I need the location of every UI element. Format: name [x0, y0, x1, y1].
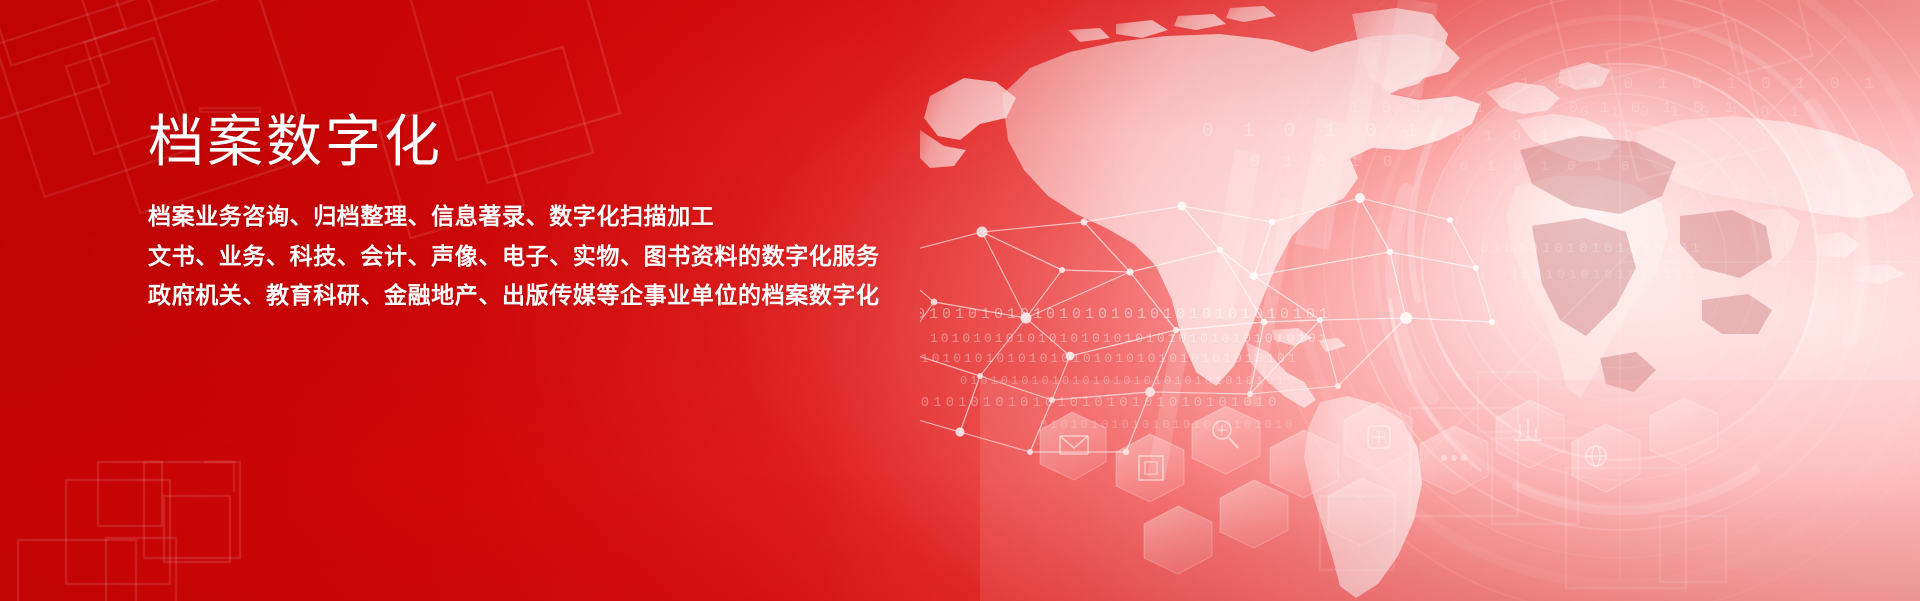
subtitle-list: 档案业务咨询、归档整理、信息著录、数字化扫描加工 文书、业务、科技、会计、声像、… [148, 197, 908, 316]
subtitle-line-2: 文书、业务、科技、会计、声像、电子、实物、图书资料的数字化服务 [148, 237, 908, 277]
subtitle-line-1: 档案业务咨询、归档整理、信息著录、数字化扫描加工 [148, 197, 908, 237]
archive-digitization-banner: 0 1 0 1 0 1 0 1 0 1 0 010101010101010101… [0, 0, 1920, 601]
page-title: 档案数字化 [148, 112, 908, 171]
banner-copy: 档案数字化 档案业务咨询、归档整理、信息著录、数字化扫描加工 文书、业务、科技、… [148, 112, 908, 316]
subtitle-line-3: 政府机关、教育科研、金融地产、出版传媒等企事业单位的档案数字化 [148, 276, 908, 316]
